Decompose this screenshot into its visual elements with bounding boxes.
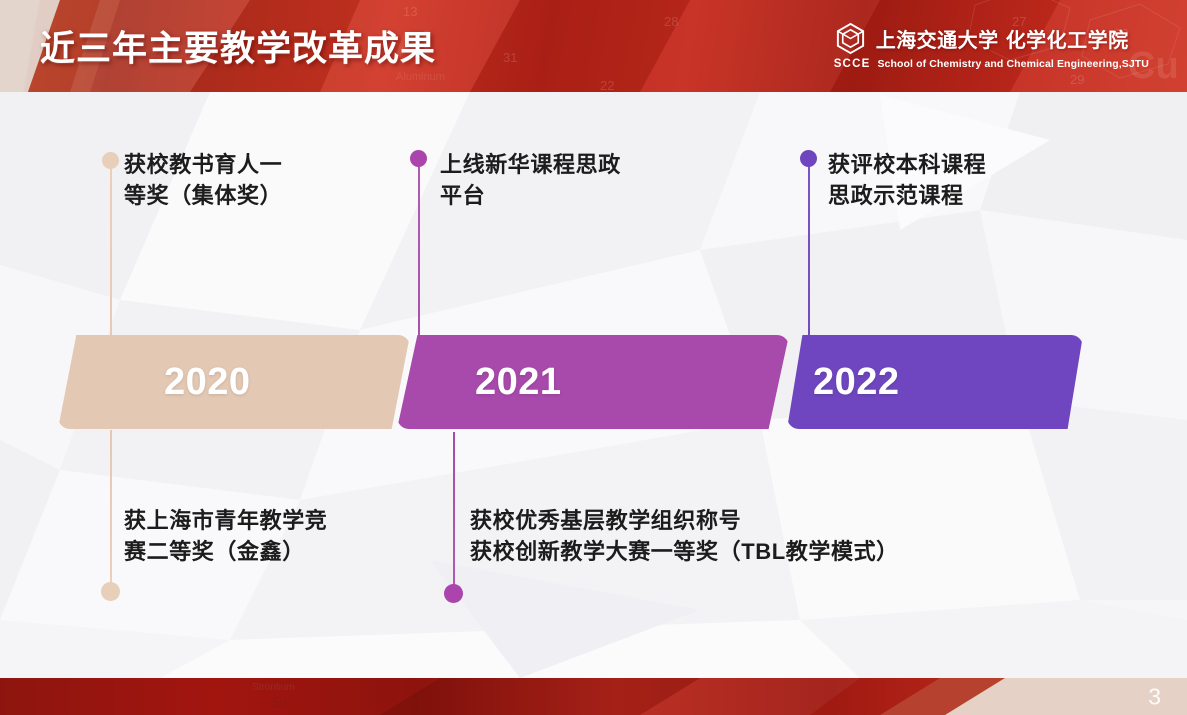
svg-text:Aluminum: Aluminum [396,71,445,83]
event-text-2020-bottom: 获上海市青年教学竞 赛二等奖（金鑫） [124,505,444,567]
svg-text:Sr: Sr [272,695,289,712]
year-banner-2022[interactable]: 2022 [787,335,1083,429]
slide-footer: Strontium Sr 3 [0,678,1187,715]
page-number: 3 [1148,683,1161,710]
event-text-2022-top: 获评校本科课程 思政示范课程 [828,149,1158,211]
svg-text:31: 31 [503,50,517,65]
year-banner-2021[interactable]: 2021 [397,335,789,429]
slide-header: 13 31 28 27 20 29 22 Aluminum Al Cu 近三年主… [0,0,1187,92]
slide-root: 13 31 28 27 20 29 22 Aluminum Al Cu 近三年主… [0,0,1187,715]
logo-school-english: School of Chemistry and Chemical Enginee… [877,58,1149,70]
timeline-dot-2020-top [102,152,119,169]
page-title: 近三年主要教学改革成果 [40,21,436,72]
logo-abbrev: SCCE [834,58,871,70]
timeline: 2020 获校教书育人一 等奖（集体奖） 获上海市青年教学竞 赛二等奖（金鑫） … [0,92,1187,678]
connector-line-2021-bottom [453,432,455,592]
logo-school-name: 化学化工学院 [1006,30,1129,52]
timeline-dot-2020-bottom [101,582,120,601]
timeline-dot-2022-top [800,150,817,167]
svg-text:13: 13 [403,4,417,19]
logo-chinese-text: 上海交通大学化学化工学院 [876,24,1129,53]
connector-line-2020-bottom [110,430,112,588]
year-label-2021: 2021 [475,361,562,404]
timeline-dot-2021-top [410,150,427,167]
year-label-2020: 2020 [164,361,251,404]
footer-decoration: Strontium Sr [0,678,1187,715]
logo-university-name: 上海交通大学 [876,30,999,52]
svg-text:22: 22 [600,78,614,92]
timeline-dot-2021-bottom [444,584,463,603]
hexagon-outline-logo-icon [834,22,867,55]
event-text-2021-top: 上线新华课程思政 平台 [440,149,800,211]
brand-logo: 上海交通大学化学化工学院 SCCE School of Chemistry an… [834,22,1149,70]
year-label-2022: 2022 [813,361,900,404]
svg-text:28: 28 [664,14,678,29]
svg-text:Strontium: Strontium [252,682,295,693]
event-text-2021-bottom: 获校优秀基层教学组织称号 获校创新教学大赛一等奖（TBL教学模式） [470,505,1110,567]
year-banner-2020[interactable]: 2020 [58,335,410,429]
event-text-2020-top: 获校教书育人一 等奖（集体奖） [124,149,424,211]
timeline-track: 2020 获校教书育人一 等奖（集体奖） 获上海市青年教学竞 赛二等奖（金鑫） … [0,92,1187,678]
svg-text:29: 29 [1070,72,1084,87]
